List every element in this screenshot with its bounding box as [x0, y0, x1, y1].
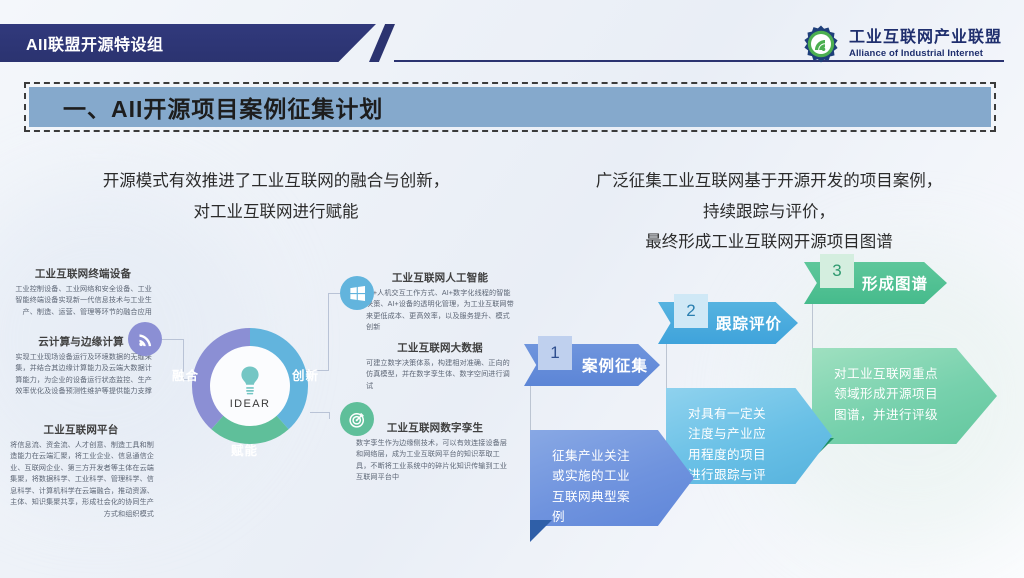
donut-center-label: IDEAR [230, 398, 271, 410]
lightbulb-icon [237, 365, 263, 395]
header-banner-title: AII联盟开源特设组 [26, 31, 163, 55]
info-block-text: 数字孪生作为边缘侧技术，可以有效连接设备层和网络层，成为工业互联网平台的知识萃取… [356, 438, 514, 484]
slide-canvas: AII联盟开源特设组 工业互联网产业联盟 Alliance of Industr… [0, 0, 1024, 578]
donut-label-fusion: 融合 [172, 365, 199, 384]
wifi-signal-icon [128, 322, 162, 356]
header-slash-decoration [369, 24, 395, 62]
process-fold-1 [530, 520, 552, 542]
process-number-1: 1 [538, 336, 572, 370]
process-body-text-3: 对工业互联网重点领域形成开源项目图谱，并进行评级 [834, 364, 943, 425]
info-block-digital-twin: 工业互联网数字孪生 数字孪生作为边缘侧技术，可以有效连接设备层和网络层，成为工业… [356, 420, 514, 484]
donut-label-innovation: 创新 [292, 365, 319, 384]
donut-center: IDEAR [210, 346, 290, 426]
donut-label-empowerment: 赋能 [231, 440, 258, 459]
org-logo: 工业互联网产业联盟 Alliance of Industrial Interne… [801, 24, 1002, 64]
info-block-text: 可建立数字决策体系，构建相对准确、正向的仿真模型，并在数字孪生体、数字空间进行调… [366, 358, 514, 392]
info-block-title: 工业互联网终端设备 [14, 266, 152, 281]
idear-donut-chart: IDEAR [186, 322, 314, 450]
connector-line [328, 293, 340, 294]
process-body-3[interactable]: 对工业互联网重点领域形成开源项目图谱，并进行评级 [812, 348, 997, 444]
lead-paragraph-right: 广泛征集工业互联网基于开源开发的项目案例，持续跟踪与评价，最终形成工业互联网开源… [530, 166, 1008, 258]
process-head-label-1: 案例征集 [582, 354, 648, 376]
page-title: 一、AII开源项目案例征集计划 [63, 90, 383, 124]
process-stem-3 [812, 304, 813, 350]
info-block-platform: 工业互联网平台 将信息流、资金流、人才创意、制造工具和制造能力在云端汇聚，将工业… [8, 422, 154, 520]
process-stem-2 [666, 344, 667, 390]
connector-line [329, 412, 330, 419]
process-flow: 对工业互联网重点领域形成开源项目图谱，并进行评级 形成图谱 3 对具有一定关注度… [524, 262, 1024, 542]
process-head-label-3: 形成图谱 [862, 272, 928, 294]
process-stem-1 [530, 386, 531, 432]
lead-left-text: 开源模式有效推进了工业互联网的融合与创新，对工业互联网进行赋能 [103, 172, 450, 221]
lead-paragraph-left: 开源模式有效推进了工业互联网的融合与创新，对工业互联网进行赋能 [36, 166, 516, 227]
logo-name-cn: 工业互联网产业联盟 [849, 30, 1002, 46]
process-body-text-1: 征集产业关注或实施的工业互联网典型案例 [552, 446, 640, 528]
connector-line [162, 339, 184, 340]
windows-tiles-icon [340, 276, 374, 310]
info-block-text: 将信息流、资金流、人才创意、制造工具和制造能力在云端汇聚，将工业企业、信息通信企… [8, 440, 154, 520]
info-block-text: 实现工业现场设备运行及环境数据的无缝采集，并结合其边缘计算能力及云端大数据计算能… [10, 352, 152, 398]
lead-right-text: 广泛征集工业互联网基于开源开发的项目案例，持续跟踪与评价，最终形成工业互联网开源… [596, 172, 943, 251]
info-block-terminal-devices: 工业互联网终端设备 工业控制设备、工业网络和安全设备、工业智能终端设备实现新一代… [14, 266, 152, 318]
process-number-2: 2 [674, 294, 708, 328]
info-block-ai: 工业互联网人工智能 AI+人机交互工作方式、AI+数字化线程的智能决策、AI+设… [366, 270, 514, 334]
info-block-title: 工业互联网数字孪生 [356, 420, 514, 435]
info-block-title: 工业互联网平台 [8, 422, 154, 437]
connector-line [328, 293, 329, 371]
gear-wifi-logo-icon [801, 24, 841, 64]
info-block-bigdata: 工业互联网大数据 可建立数字决策体系，构建相对准确、正向的仿真模型，并在数字孪生… [366, 340, 514, 392]
process-number-3: 3 [820, 254, 854, 288]
logo-name-en: Alliance of Industrial Internet [849, 49, 1002, 59]
process-body-2[interactable]: 对具有一定关注度与产业应用程度的项目进行跟踪与评价 [666, 388, 832, 484]
info-block-text: AI+人机交互工作方式、AI+数字化线程的智能决策、AI+设备的透明化管理，为工… [366, 288, 514, 334]
info-block-title: 工业互联网大数据 [366, 340, 514, 355]
process-body-text-2: 对具有一定关注度与产业应用程度的项目进行跟踪与评价 [688, 404, 778, 506]
process-head-label-2: 跟踪评价 [716, 312, 782, 334]
section-title-fill: 一、AII开源项目案例征集计划 [29, 87, 991, 127]
section-title-box: 一、AII开源项目案例征集计划 [24, 82, 996, 132]
info-block-text: 工业控制设备、工业网络和安全设备、工业智能终端设备实现新一代信息技术与工业生产、… [14, 284, 152, 318]
info-block-title: 工业互联网人工智能 [366, 270, 514, 285]
target-icon [340, 402, 374, 436]
